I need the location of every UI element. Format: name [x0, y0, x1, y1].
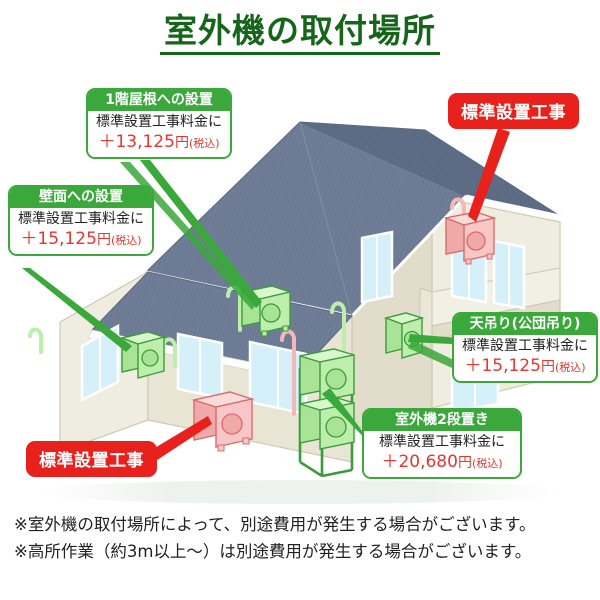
callout-two-tier-amount: 20,680 — [398, 452, 457, 472]
ac-unit-wall-left — [122, 332, 164, 378]
callout-wall-line1: 標準設置工事料金に — [15, 211, 147, 228]
badge-standard-bottom[interactable]: 標準設置工事 — [26, 441, 157, 477]
callout-wall-header: 壁面への設置 — [10, 187, 152, 208]
callout-two-tier-line1: 標準設置工事料金に — [369, 434, 515, 451]
callout-ceiling-hang-price: ＋15,125円(税込) — [459, 356, 591, 377]
callout-ceiling-hang-header: 天吊り(公団吊り) — [454, 314, 596, 335]
callout-two-tier-header: 室外機2段置き — [364, 410, 520, 431]
callout-ceiling-hang-plus: ＋ — [464, 356, 481, 376]
callout-ceiling-hang-amount: 15,125 — [481, 356, 540, 376]
callout-wall-plus: ＋ — [20, 229, 37, 249]
callout-two-tier-price: ＋20,680円(税込) — [369, 452, 515, 473]
ground-shadow — [32, 480, 568, 504]
callout-ceiling-hang-tax: (税込) — [555, 361, 586, 374]
callout-two-tier-plus: ＋ — [381, 452, 398, 472]
callout-roof-1f-tax: (税込) — [189, 137, 220, 150]
callout-roof-1f-header: 1階屋根への設置 — [88, 90, 230, 111]
callout-wall-body: 標準設置工事料金に ＋15,125円(税込) — [10, 208, 152, 254]
callout-wall[interactable]: 壁面への設置 標準設置工事料金に ＋15,125円(税込) — [8, 185, 154, 256]
callout-two-tier-body: 標準設置工事料金に ＋20,680円(税込) — [364, 431, 520, 477]
callout-ceiling-hang[interactable]: 天吊り(公団吊り) 標準設置工事料金に ＋15,125円(税込) — [452, 312, 598, 383]
callout-two-tier-tax: (税込) — [472, 457, 503, 470]
callout-roof-1f-yen: 円 — [175, 135, 189, 151]
callout-ceiling-hang-yen: 円 — [541, 359, 555, 375]
footnotes: ※室外機の取付場所によって、別途費用が発生する場合がございます。 ※高所作業（約… — [14, 512, 589, 565]
footnote-line-1: ※室外機の取付場所によって、別途費用が発生する場合がございます。 — [14, 512, 589, 539]
callout-ceiling-hang-body: 標準設置工事料金に ＋15,125円(税込) — [454, 335, 596, 381]
footnote-line-2: ※高所作業（約3m以上〜）は別途費用が発生する場合がございます。 — [14, 539, 589, 566]
badge-standard-top[interactable]: 標準設置工事 — [448, 93, 579, 129]
callout-wall-amount: 15,125 — [37, 229, 96, 249]
callout-roof-1f-price: ＋13,125円(税込) — [93, 132, 225, 153]
callout-roof-1f-plus: ＋ — [98, 132, 115, 152]
callout-two-tier[interactable]: 室外機2段置き 標準設置工事料金に ＋20,680円(税込) — [362, 408, 522, 479]
callout-wall-price: ＋15,125円(税込) — [15, 229, 147, 250]
callout-two-tier-yen: 円 — [458, 455, 472, 471]
callout-ceiling-hang-line1: 標準設置工事料金に — [459, 338, 591, 355]
infographic-root: 室外機の取付場所 — [0, 0, 600, 600]
callout-roof-1f-body: 標準設置工事料金に ＋13,125円(税込) — [88, 111, 230, 157]
callout-wall-yen: 円 — [97, 232, 111, 248]
callout-roof-1f-amount: 13,125 — [115, 132, 174, 152]
callout-roof-1f-line1: 標準設置工事料金に — [93, 114, 225, 131]
callout-roof-1f[interactable]: 1階屋根への設置 標準設置工事料金に ＋13,125円(税込) — [86, 88, 232, 159]
callout-wall-tax: (税込) — [111, 234, 142, 247]
